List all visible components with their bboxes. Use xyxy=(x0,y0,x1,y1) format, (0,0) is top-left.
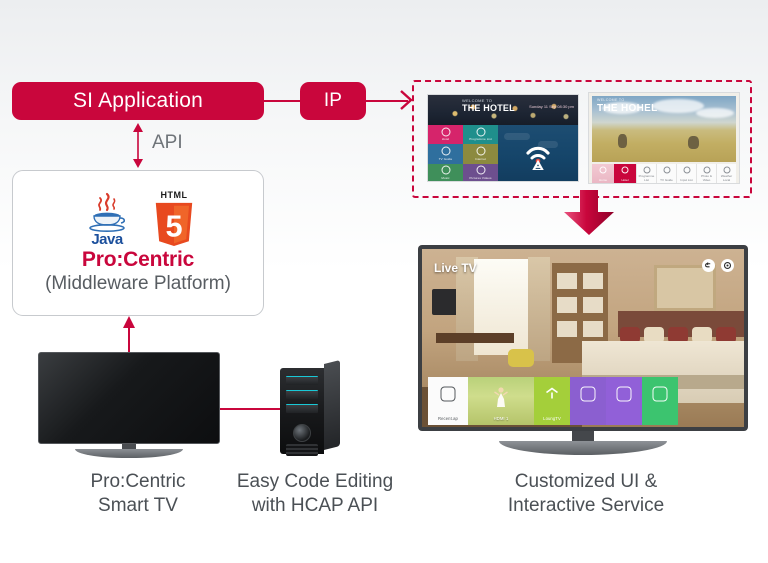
tv-bezel: Live TV xyxy=(418,245,748,431)
launcher-tile-recent[interactable]: Recent.ap xyxy=(428,377,468,425)
back-icon[interactable] xyxy=(702,259,715,272)
tile-pictures-videos[interactable]: Pictures Videos xyxy=(463,164,498,182)
hotel-banner-night-city: WELCOME TO THE HOTEL Sunday 11 Sep 08:30… xyxy=(428,95,578,125)
shelf-slot xyxy=(583,321,603,337)
tile-label: Internet xyxy=(463,157,498,161)
photo-icon xyxy=(476,166,485,175)
svg-text:5: 5 xyxy=(165,209,182,243)
si-application-box[interactable]: SI Application xyxy=(12,82,264,120)
wifi-antenna-icon xyxy=(522,140,554,170)
menu-item-tv-guide[interactable]: TV Guide xyxy=(656,164,676,184)
si-application-label: SI Application xyxy=(73,89,203,113)
clock-label: Sunday 11 Sep 08:30 pm xyxy=(529,104,574,109)
connector-tv-to-middleware xyxy=(128,326,130,354)
ip-label: IP xyxy=(324,90,342,112)
menu-item-weather-local[interactable]: Weather Local xyxy=(716,164,736,184)
tv-corner-icon-group xyxy=(702,259,734,272)
middleware-platform-box[interactable]: Java HTML 5 Pro:Centric (Middleware Plat… xyxy=(12,170,264,316)
recent-icon xyxy=(441,387,456,402)
webos-launcher-bar: Recent.ap HDMI 1 xyxy=(428,373,678,425)
api-label: API xyxy=(152,132,183,154)
customized-ui-tv[interactable]: Live TV xyxy=(418,245,748,457)
launcher-tile-loungtv[interactable]: LoungTV xyxy=(534,377,570,425)
hotel-ui-screen-left[interactable]: WELCOME TO THE HOTEL Sunday 11 Sep 08:30… xyxy=(427,94,579,182)
down-arrow xyxy=(562,190,616,236)
menu-label: Weather Local xyxy=(717,174,736,182)
music-icon xyxy=(441,166,450,175)
pro-centric-smart-tv[interactable] xyxy=(38,352,220,458)
tv-stand-foot xyxy=(499,441,667,455)
launcher-tile-tv[interactable] xyxy=(642,377,678,425)
ip-box[interactable]: IP xyxy=(300,82,366,120)
html5-logo: HTML 5 xyxy=(150,190,198,247)
tile-label: Pictures Videos xyxy=(463,176,498,180)
connector-si-to-ip xyxy=(264,100,300,102)
caption-line-1: Pro:Centric xyxy=(58,470,218,494)
launcher-label: HDMI 1 xyxy=(468,416,534,421)
tile-tv-guide[interactable]: TV Guide xyxy=(428,144,463,163)
hotel-ui-frame: WELCOME TO THE HOHEL Home Hotel Programm… xyxy=(589,93,739,183)
welcome-label: WELCOME TO xyxy=(597,98,624,102)
diagram-canvas: SI Application IP API xyxy=(0,0,768,563)
tile-internet[interactable]: Internet xyxy=(463,144,498,163)
caption-line-1: Customized UI & xyxy=(452,470,720,494)
tv-icon xyxy=(653,387,668,402)
launcher-tile-music[interactable] xyxy=(570,377,606,425)
server-drive-bay xyxy=(286,390,318,399)
caption-easy-code-editing: Easy Code Editing with HCAP API xyxy=(215,470,415,519)
photo-icon xyxy=(703,167,710,174)
landscape-artwork: WELCOME TO THE HOHEL xyxy=(592,96,736,162)
desk xyxy=(436,333,514,343)
settings-gear-icon[interactable] xyxy=(721,259,734,272)
server-vent-grill xyxy=(286,444,318,456)
tile-label: Programme List xyxy=(463,137,498,141)
curtain xyxy=(528,257,550,361)
guide-icon xyxy=(441,146,450,155)
launcher-label: LoungTV xyxy=(534,416,570,421)
api-arrow xyxy=(130,123,146,168)
lounge-icon xyxy=(545,387,560,402)
tile-music[interactable]: Music xyxy=(428,164,463,182)
tile-label: Hotel xyxy=(428,137,463,141)
tv-stand-foot xyxy=(75,449,183,458)
cloud-shape xyxy=(504,133,530,140)
menu-label: Input List xyxy=(677,178,696,182)
hcap-server[interactable] xyxy=(280,362,340,454)
server-power-knob[interactable] xyxy=(293,424,311,442)
connector-tv-to-server xyxy=(218,408,284,410)
tile-label: Music xyxy=(428,176,463,180)
html5-tag-label: HTML xyxy=(150,190,198,200)
caption-line-2: Smart TV xyxy=(58,494,218,518)
home-icon xyxy=(600,167,607,174)
hotel-menu-body: Hotel Programme List TV Guide Internet xyxy=(428,125,578,182)
menu-item-hotel[interactable]: Hotel xyxy=(614,164,636,184)
shelf-slot xyxy=(557,297,577,313)
hotel-ui-screen-right[interactable]: WELCOME TO THE HOHEL Home Hotel Programm… xyxy=(588,92,740,184)
armchair xyxy=(508,349,534,367)
tile-programme-list[interactable]: Programme List xyxy=(463,125,498,144)
server-side-panel xyxy=(324,360,340,450)
menu-label: Home xyxy=(592,178,614,182)
menu-item-photo-video[interactable]: Photo & Video xyxy=(696,164,716,184)
menu-label: Photo & Video xyxy=(697,174,716,182)
hotel-ui-screens-group: WELCOME TO THE HOTEL Sunday 11 Sep 08:30… xyxy=(412,80,752,198)
launcher-tile-photo[interactable] xyxy=(606,377,642,425)
tile-hotel[interactable]: Hotel xyxy=(428,125,463,144)
caption-line-1: Easy Code Editing xyxy=(215,470,415,494)
server-drive-bay xyxy=(286,376,318,385)
hotel-name-label: THE HOHEL xyxy=(597,103,657,114)
weather-icon xyxy=(723,167,730,174)
server-drive-bay xyxy=(286,404,318,413)
tile-label: TV Guide xyxy=(428,157,463,161)
info-icon xyxy=(441,127,450,136)
music-icon xyxy=(581,387,596,402)
input-icon xyxy=(683,167,690,174)
list-icon xyxy=(643,167,650,174)
menu-label: TV Guide xyxy=(657,178,676,182)
shelf-slot xyxy=(583,273,603,289)
menu-item-input-list[interactable]: Input List xyxy=(676,164,696,184)
caption-customized-ui: Customized UI & Interactive Service xyxy=(452,470,720,519)
caption-line-2: Interactive Service xyxy=(452,494,720,518)
caption-pro-centric-smart-tv: Pro:Centric Smart TV xyxy=(58,470,218,519)
hotel-hero-panel xyxy=(498,125,578,182)
photo-icon xyxy=(617,387,632,402)
cloud-shape xyxy=(696,108,734,118)
shelf-slot xyxy=(583,297,603,313)
tv-screen: Live TV xyxy=(422,249,744,427)
middleware-subtitle: (Middleware Platform) xyxy=(45,273,231,295)
guide-icon xyxy=(663,167,670,174)
middleware-title: Pro:Centric xyxy=(82,248,194,272)
java-logo: Java xyxy=(78,192,136,247)
live-tv-label: Live TV xyxy=(434,261,477,275)
java-wordmark: Java xyxy=(78,232,136,247)
launcher-tile-hdmi1[interactable]: HDMI 1 xyxy=(468,377,534,425)
menu-item-programme-list[interactable]: Programme List xyxy=(636,164,656,184)
tv-screen xyxy=(38,352,220,444)
hotel-name-label: THE HOTEL xyxy=(462,103,515,113)
girl-in-field-image xyxy=(493,385,509,411)
middleware-up-arrow-head xyxy=(121,316,137,330)
hotel-bottom-menu-bar: Home Hotel Programme List TV Guide xyxy=(592,164,736,184)
tree-shape xyxy=(688,136,699,149)
launcher-label: Recent.ap xyxy=(428,416,468,421)
tree-shape xyxy=(618,134,627,148)
technology-logos: Java HTML 5 xyxy=(78,181,198,247)
server-front-panel xyxy=(280,368,324,454)
globe-icon xyxy=(476,146,485,155)
hotel-tile-grid: Hotel Programme List TV Guide Internet xyxy=(428,125,498,182)
info-icon xyxy=(622,167,629,174)
menu-label: Hotel xyxy=(614,178,636,182)
menu-item-home[interactable]: Home xyxy=(592,164,614,184)
shelf-slot xyxy=(557,273,577,289)
caption-line-2: with HCAP API xyxy=(215,494,415,518)
shelf-slot xyxy=(557,321,577,337)
list-icon xyxy=(476,127,485,136)
menu-label: Programme List xyxy=(637,174,656,182)
